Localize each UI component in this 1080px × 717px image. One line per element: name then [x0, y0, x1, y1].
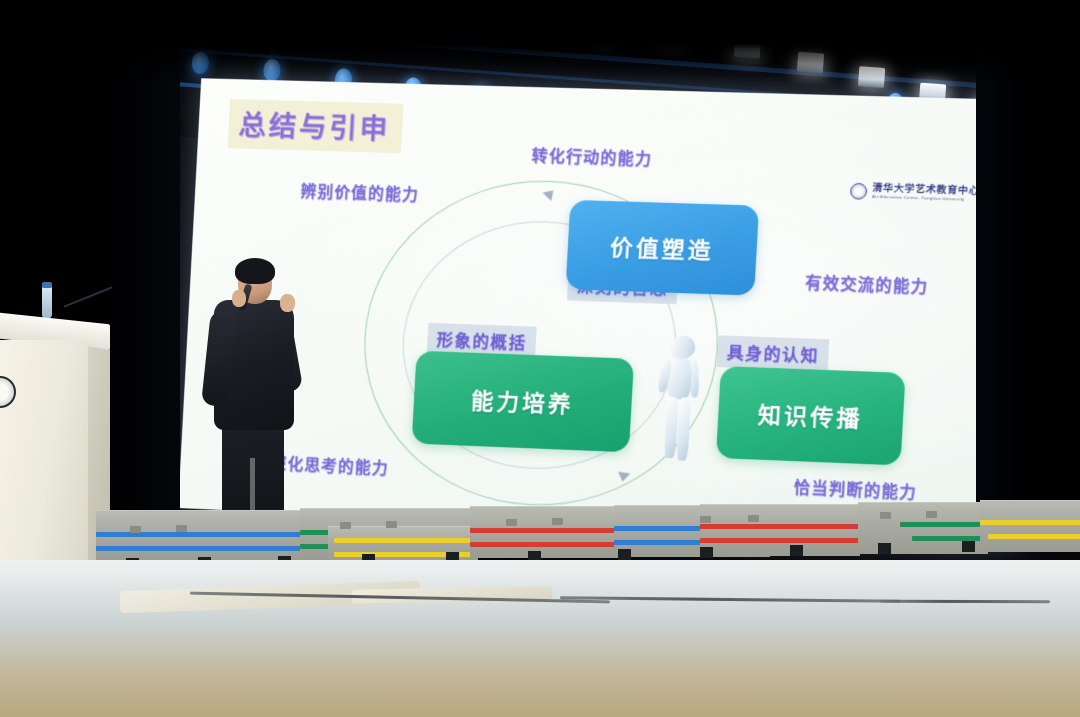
projection-screen: 总结与引申 清华大学艺术教育中心 Art Education Center, T… — [178, 78, 1040, 544]
riser-handle — [176, 525, 187, 532]
capability-label-transform: 转化行动的能力 — [531, 144, 653, 170]
riser-handle — [748, 515, 759, 522]
capability-label-communicate: 有效交流的能力 — [805, 271, 929, 298]
riser-foot — [878, 543, 891, 554]
riser-stripe-yellow — [980, 520, 1080, 525]
tsinghua-seal-icon — [850, 183, 868, 200]
figure-leg-right — [676, 397, 691, 461]
water-bottle-cap — [42, 282, 52, 288]
riser-block — [980, 500, 1080, 552]
capability-label-judge: 恰当判断的能力 — [793, 475, 917, 503]
riser-foot — [618, 549, 631, 560]
white-spotlight-icon — [797, 52, 824, 74]
riser-handle — [340, 522, 351, 529]
organization-logo: 清华大学艺术教育中心 Art Education Center, Tsinghu… — [850, 183, 980, 203]
capability-label-discern: 辨别价值的能力 — [300, 179, 420, 205]
riser-foot — [790, 545, 803, 556]
riser-stripe-red — [700, 524, 860, 529]
riser-block — [700, 504, 860, 556]
stage-right-dark-area — [976, 0, 1080, 540]
slide-title: 总结与引申 — [228, 99, 404, 153]
riser-handle — [552, 518, 563, 525]
riser-handle — [506, 519, 517, 526]
presenter-hair — [235, 258, 275, 284]
floor-cable — [880, 600, 1050, 604]
riser-handle — [880, 512, 891, 519]
riser-handle — [926, 511, 937, 518]
riser-handle — [700, 516, 711, 523]
riser-stripe-yellow — [334, 538, 480, 543]
cycle-arrow-icon — [617, 472, 631, 483]
white-spotlight-icon — [657, 21, 684, 43]
riser-handle — [130, 526, 141, 533]
logo-text: 清华大学艺术教育中心 Art Education Center, Tsinghu… — [872, 184, 980, 203]
3d-human-figure-icon — [647, 333, 712, 466]
riser-stripe-blue — [96, 546, 306, 551]
white-spotlight-icon — [734, 37, 761, 59]
presenter-hand-left — [232, 290, 246, 307]
water-bottle-icon — [42, 286, 52, 318]
logo-name-en: Art Education Center, Tsinghua Universit… — [872, 195, 979, 203]
riser-stripe-yellow — [988, 534, 1080, 539]
riser-stripe-red — [470, 542, 620, 547]
riser-foot — [700, 547, 713, 558]
photo-scene: 总结与引申 清华大学艺术教育中心 Art Education Center, T… — [0, 0, 1080, 717]
node-knowledge-spread: 知识传播 — [716, 366, 906, 465]
white-spotlight-icon — [553, 8, 580, 30]
riser-handle — [386, 521, 397, 528]
node-value-shaping: 价值塑造 — [566, 200, 760, 296]
presenter-hand-right — [280, 294, 295, 312]
node-ability-cultivation: 能力培养 — [412, 351, 634, 453]
riser-stripe-red — [470, 528, 620, 533]
riser-stripe-red — [700, 538, 860, 543]
riser-stripe-blue — [96, 532, 306, 537]
white-spotlight-icon — [858, 66, 885, 88]
riser-foot — [962, 541, 975, 552]
tag-embodied: 具身的认知 — [717, 335, 830, 371]
